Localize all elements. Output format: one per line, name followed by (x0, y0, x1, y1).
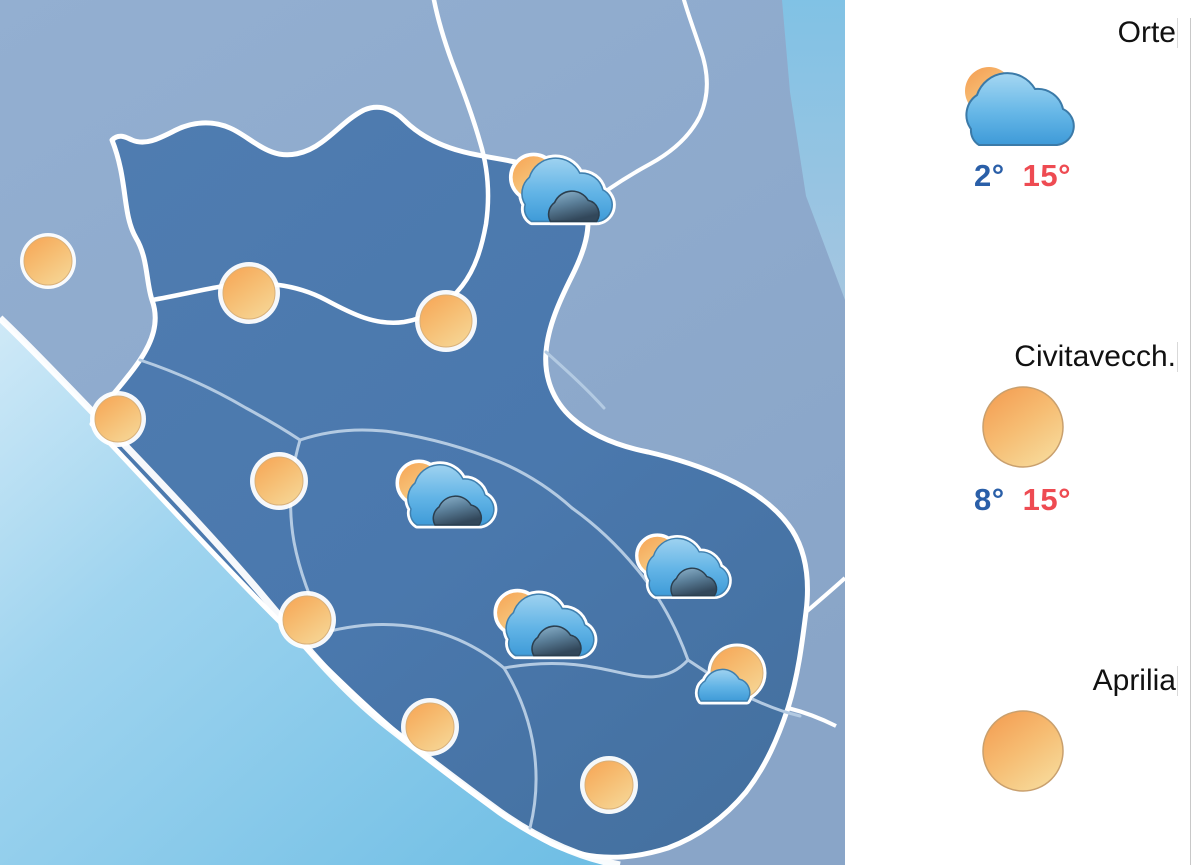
city-temperatures (845, 806, 1200, 842)
temp-max: 15° (1023, 482, 1071, 517)
city-name-label: Civitavecch. (845, 342, 1200, 372)
weather-map-app: Orte (0, 0, 1200, 865)
city-card-aprilia[interactable]: Aprilia (845, 666, 1200, 842)
city-card-civitavecchia[interactable]: Civitavecch. 8°15° (845, 342, 1200, 518)
station-icon-sun[interactable] (415, 290, 477, 352)
city-forecast-sidebar[interactable]: Orte (845, 0, 1200, 865)
region-weather-map[interactable] (0, 0, 845, 865)
station-icon-sun[interactable] (250, 452, 308, 510)
temp-min: 8° (974, 482, 1005, 517)
station-icon-sun[interactable] (401, 698, 459, 756)
station-icon-sun[interactable] (278, 591, 336, 649)
city-name-label: Aprilia (845, 666, 1200, 696)
city-name-label: Orte (845, 18, 1200, 48)
city-temperatures: 2°15° (845, 158, 1200, 194)
text-caret (1177, 666, 1178, 696)
weather-icon-sun-cloud[interactable] (845, 48, 1200, 158)
weather-icon-sun[interactable] (845, 696, 1200, 806)
city-card-orte[interactable]: Orte (845, 18, 1200, 194)
station-icon-sun[interactable] (580, 756, 638, 814)
weather-icon-sun[interactable] (845, 372, 1200, 482)
text-caret (1177, 342, 1178, 372)
temp-min: 2° (974, 158, 1005, 193)
city-temperatures: 8°15° (845, 482, 1200, 518)
temp-max: 15° (1023, 158, 1071, 193)
text-caret (1177, 18, 1178, 48)
station-icon-sun[interactable] (20, 233, 76, 289)
station-icon-sun[interactable] (90, 391, 146, 447)
map-canvas[interactable] (0, 0, 845, 865)
station-icon-sun[interactable] (218, 262, 280, 324)
